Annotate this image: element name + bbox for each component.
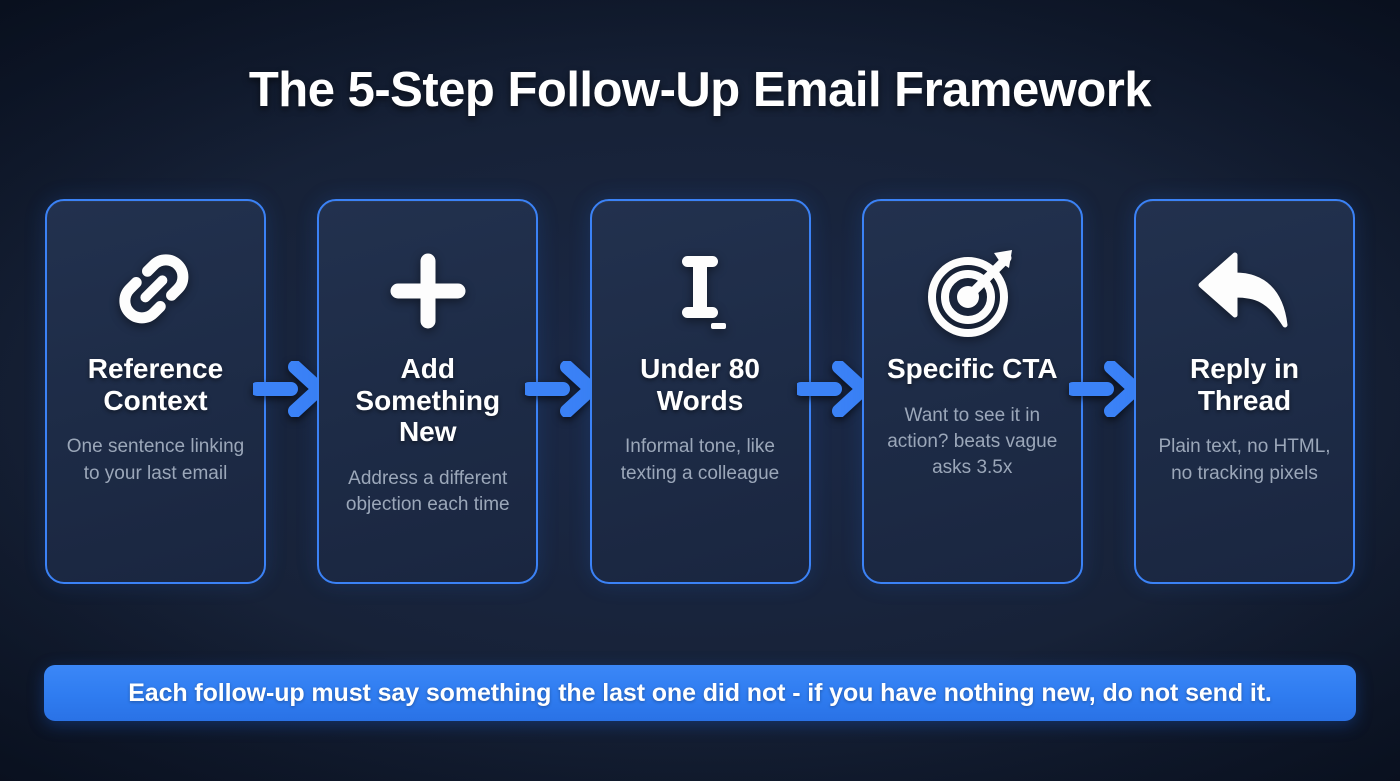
- step-card-2[interactable]: Add Something New Address a different ob…: [317, 199, 538, 584]
- page-title: The 5-Step Follow-Up Email Framework: [0, 62, 1400, 118]
- step-description: One sentence linking to your last email: [60, 434, 251, 487]
- step-card-1[interactable]: Reference Context One sentence linking t…: [45, 199, 266, 584]
- step-card-4[interactable]: Specific CTA Want to see it in action? b…: [862, 199, 1083, 584]
- connector-gap-4: [1083, 199, 1134, 584]
- plus-icon: [380, 237, 476, 345]
- reply-arrow-icon: [1195, 237, 1295, 345]
- text-cursor-icon: [652, 237, 748, 345]
- steps-row: Reference Context One sentence linking t…: [45, 199, 1355, 584]
- bottom-banner: Each follow-up must say something the la…: [44, 665, 1356, 721]
- step-title: Reply in Thread: [1149, 353, 1340, 416]
- step-title: Specific CTA: [887, 353, 1058, 385]
- connector-gap-3: [811, 199, 862, 584]
- target-icon: [924, 237, 1020, 345]
- step-card-3[interactable]: Under 80 Words Informal tone, like texti…: [590, 199, 811, 584]
- step-description: Informal tone, like texting a colleague: [605, 434, 796, 487]
- connector-gap-2: [538, 199, 589, 584]
- step-description: Plain text, no HTML, no tracking pixels: [1149, 434, 1340, 487]
- step-description: Want to see it in action? beats vague as…: [877, 403, 1068, 482]
- step-title: Under 80 Words: [605, 353, 796, 416]
- banner-text: Each follow-up must say something the la…: [128, 679, 1272, 708]
- step-title: Add Something New: [332, 353, 523, 448]
- step-description: Address a different objection each time: [332, 466, 523, 519]
- step-title: Reference Context: [60, 353, 251, 416]
- connector-gap-1: [266, 199, 317, 584]
- step-card-5[interactable]: Reply in Thread Plain text, no HTML, no …: [1134, 199, 1355, 584]
- link-icon: [108, 237, 204, 345]
